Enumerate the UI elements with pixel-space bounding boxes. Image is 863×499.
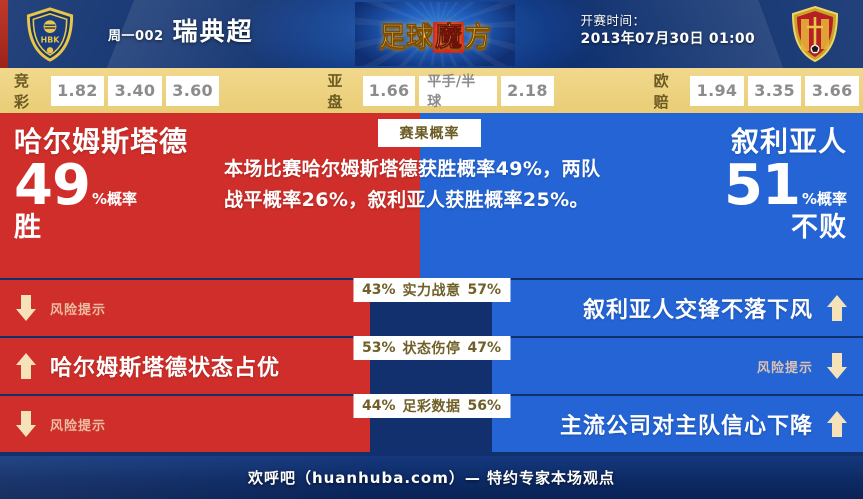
arrow-down-icon [14, 293, 38, 323]
odds-group-title: 竞彩 [14, 70, 44, 112]
row-category-label: 状态伤停 [403, 338, 461, 358]
odds-group-oupei: 欧赔 1.94 3.35 3.66 [654, 70, 863, 112]
odds-cell-draw[interactable]: 3.35 [748, 76, 802, 106]
row-left-percent: 44% [362, 398, 396, 414]
match-title-group: 周一002 瑞典超 [108, 12, 254, 48]
row-right-percent: 57% [468, 282, 502, 298]
away-percent-row: 51 %概率 [724, 160, 847, 212]
odds-group-jingcai: 竞彩 1.82 3.40 3.60 [14, 70, 223, 112]
kickoff-info: 开赛时间： 2013年07月30日 01:00 [581, 12, 755, 49]
header-bar: HBK 周一002 瑞典超 足球魔方 开赛时间： 2013年07月30日 01:… [0, 0, 863, 68]
logo-text-part-a: 足球 [379, 22, 433, 53]
row-message: 主流公司对主队信心下降 [560, 408, 813, 440]
match-summary-text: 本场比赛哈尔姆斯塔德获胜概率49%，两队战平概率26%，叙利亚人获胜概率25%。 [224, 154, 614, 216]
odds-cell-home[interactable]: 1.66 [363, 76, 415, 106]
odds-cell-away[interactable]: 3.60 [166, 76, 220, 106]
odds-cell-away[interactable]: 2.18 [501, 76, 553, 106]
logo-text: 足球魔方 [379, 15, 491, 54]
home-percent-row: 49 %概率 [14, 160, 188, 212]
league-name: 瑞典超 [173, 12, 254, 48]
odds-cell-away[interactable]: 3.66 [805, 76, 859, 106]
comparison-rows: 风险提示 43% 实力战意 57% 叙利亚人交锋不落下风 哈尔姆斯塔德状态占优 [0, 280, 863, 456]
row-right-side: 主流公司对主队信心下降 [492, 396, 863, 452]
away-percent-value: 51 [724, 160, 800, 212]
odds-bar: 竞彩 1.82 3.40 3.60 亚盘 1.66 平手/半球 2.18 欧赔 … [0, 68, 863, 113]
row-right-percent: 56% [468, 398, 502, 414]
row-right-side: 叙利亚人交锋不落下风 [492, 280, 863, 336]
home-team-crest-icon: HBK [24, 7, 76, 62]
risk-warning-label: 风险提示 [50, 415, 106, 434]
risk-warning-label: 风险提示 [50, 299, 106, 318]
odds-group-yapan: 亚盘 1.66 平手/半球 2.18 [327, 70, 557, 112]
row-right-percent: 47% [468, 340, 502, 356]
row-left-side: 风险提示 [0, 280, 370, 336]
svg-text:HBK: HBK [41, 35, 61, 44]
arrow-up-icon [14, 351, 38, 381]
home-percent-value: 49 [14, 160, 90, 212]
risk-warning-label: 风险提示 [757, 357, 813, 376]
odds-cell-home[interactable]: 1.94 [690, 76, 744, 106]
logo-text-part-c: 方 [464, 22, 491, 53]
row-category-label: 实力战意 [403, 280, 461, 300]
away-probability-block: 叙利亚人 51 %概率 不败 [724, 125, 847, 243]
arrow-down-icon [825, 351, 849, 381]
odds-cell-handicap[interactable]: 平手/半球 [419, 76, 497, 106]
home-probability-block: 哈尔姆斯塔德 49 %概率 胜 [14, 125, 188, 243]
comparison-row: 哈尔姆斯塔德状态占优 53% 状态伤停 47% 风险提示 [0, 338, 863, 394]
row-center-label: 44% 足彩数据 56% [353, 394, 510, 418]
away-team-crest-icon [789, 5, 841, 63]
row-right-side: 风险提示 [492, 338, 863, 394]
row-left-percent: 53% [362, 340, 396, 356]
away-percent-unit: %概率 [802, 192, 847, 212]
row-message: 哈尔姆斯塔德状态占优 [50, 350, 280, 382]
infographic-root: HBK 周一002 瑞典超 足球魔方 开赛时间： 2013年07月30日 01:… [0, 0, 863, 499]
home-verdict: 胜 [14, 213, 188, 243]
odds-cell-home[interactable]: 1.82 [51, 76, 105, 106]
odds-group-title: 亚盘 [327, 70, 356, 112]
row-message: 叙利亚人交锋不落下风 [583, 292, 813, 324]
tab-result-probability[interactable]: 赛果概率 [378, 119, 481, 147]
row-center-label: 43% 实力战意 57% [353, 278, 510, 302]
header-red-edge [0, 0, 8, 68]
odds-cell-draw[interactable]: 3.40 [108, 76, 162, 106]
comparison-row: 风险提示 43% 实力战意 57% 叙利亚人交锋不落下风 [0, 280, 863, 336]
kickoff-label: 开赛时间： [581, 12, 755, 29]
footer-credit-text: 欢呼吧（huanhuba.com）— 特约专家本场观点 [248, 467, 615, 488]
footer-bar: 欢呼吧（huanhuba.com）— 特约专家本场观点 [0, 456, 863, 499]
row-category-label: 足彩数据 [403, 396, 461, 416]
home-percent-unit: %概率 [92, 192, 137, 212]
arrow-up-icon [825, 293, 849, 323]
row-center-label: 53% 状态伤停 47% [353, 336, 510, 360]
row-left-percent: 43% [362, 282, 396, 298]
kickoff-time: 2013年07月30日 01:00 [581, 29, 755, 49]
row-left-side: 风险提示 [0, 396, 370, 452]
odds-group-title: 欧赔 [654, 70, 684, 112]
match-number: 周一002 [108, 25, 164, 44]
comparison-row: 风险提示 44% 足彩数据 56% 主流公司对主队信心下降 [0, 396, 863, 452]
arrow-up-icon [825, 409, 849, 439]
brand-logo: 足球魔方 [355, 2, 515, 66]
row-left-side: 哈尔姆斯塔德状态占优 [0, 338, 370, 394]
arrow-down-icon [14, 409, 38, 439]
logo-text-part-b: 魔 [433, 22, 464, 53]
